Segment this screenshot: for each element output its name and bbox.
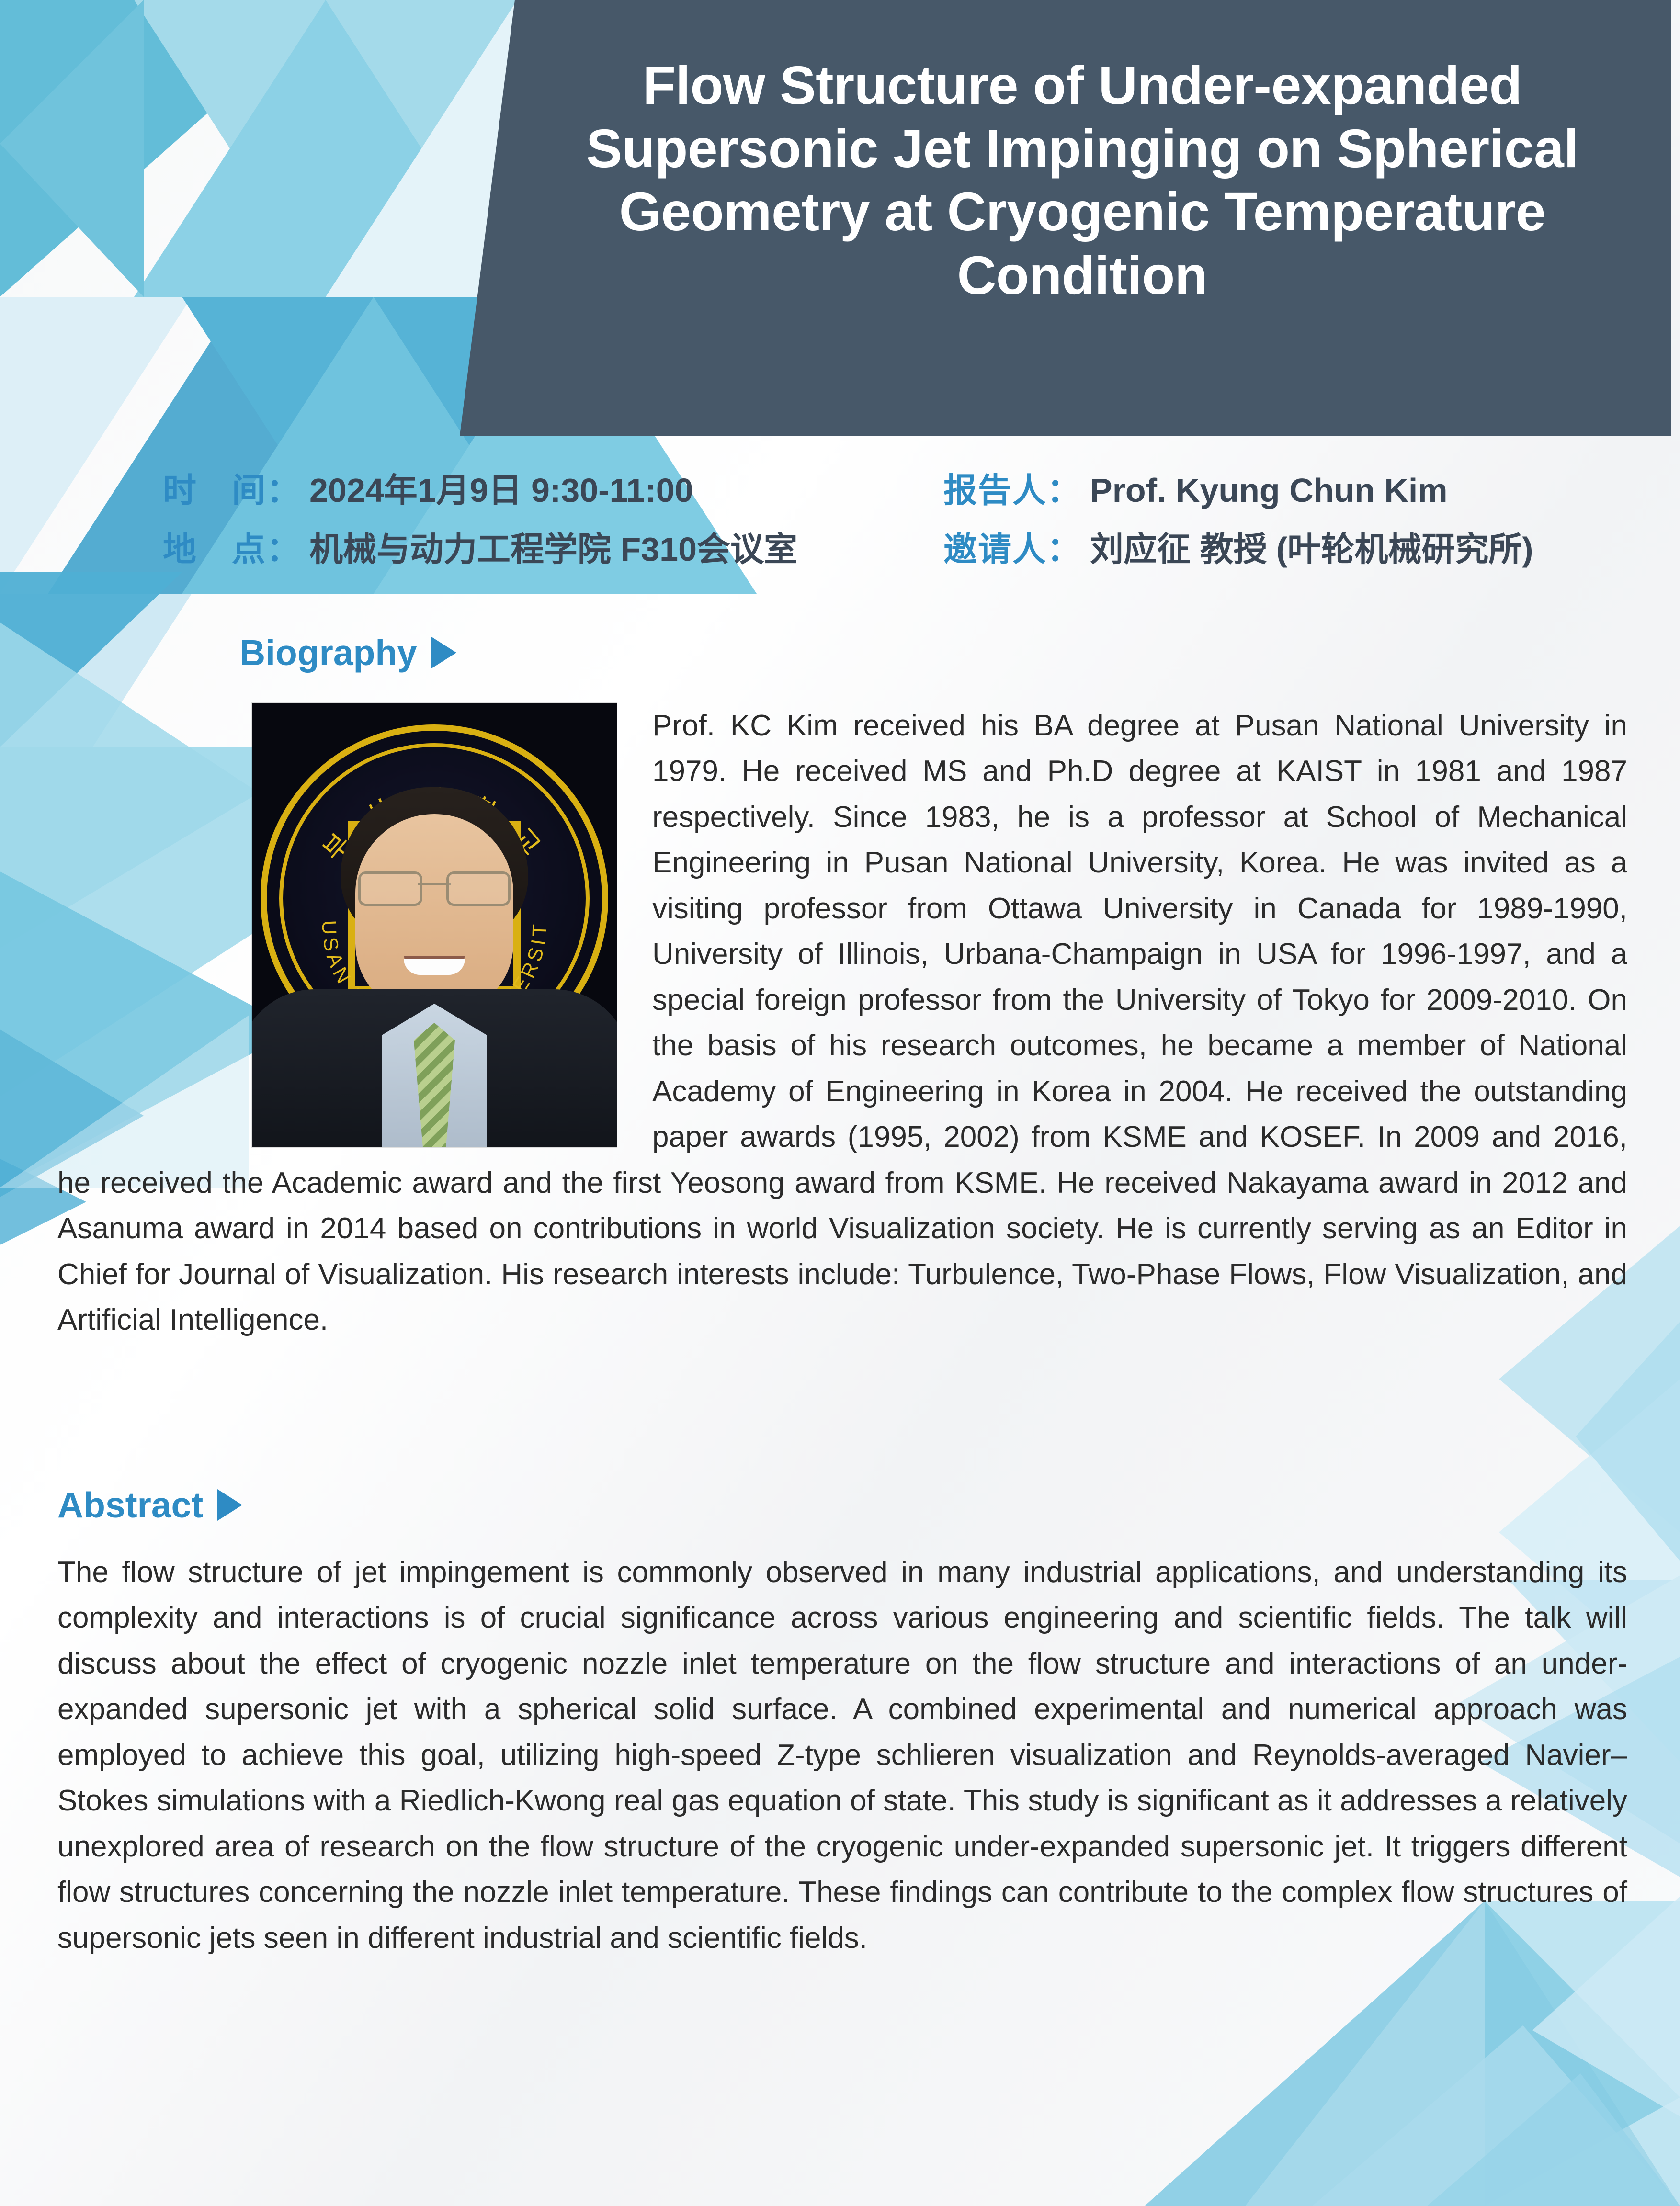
biography-text-block: Prof. KC Kim received his BA degree at P… (57, 703, 1627, 1343)
title-band: Flow Structure of Under-expanded Superso… (0, 0, 1680, 436)
biography-heading-label: Biography (239, 632, 417, 673)
host-label: 邀请人： (943, 522, 1081, 571)
time-field: 时 间： 2024年1月9日 9:30-11:00 (163, 464, 943, 512)
info-row-place: 地 点： 机械与动力工程学院 F310会议室 邀请人： 刘应征 教授 (叶轮机械… (163, 522, 1628, 571)
host-value: 刘应征 教授 (叶轮机械研究所) (1090, 522, 1533, 571)
place-field: 地 点： 机械与动力工程学院 F310会议室 (163, 522, 943, 571)
host-field: 邀请人： 刘应征 教授 (叶轮机械研究所) (943, 522, 1533, 571)
info-row-time: 时 间： 2024年1月9日 9:30-11:00 报告人： Prof. Kyu… (163, 464, 1628, 512)
abstract-text: The flow structure of jet impingement is… (57, 1556, 1627, 1955)
photo-wrap-spacer (57, 703, 652, 1153)
abstract-text-block: The flow structure of jet impingement is… (57, 1550, 1627, 1961)
place-label: 地 点： (163, 522, 301, 571)
abstract-heading-label: Abstract (57, 1484, 203, 1526)
speaker-value: Prof. Kyung Chun Kim (1090, 471, 1448, 509)
page-title: Flow Structure of Under-expanded Superso… (522, 54, 1643, 307)
time-value: 2024年1月9日 9:30-11:00 (309, 464, 693, 512)
place-value: 机械与动力工程学院 F310会议室 (309, 522, 797, 571)
abstract-heading: Abstract (57, 1484, 242, 1526)
speaker-label: 报告人： (943, 464, 1081, 512)
triangle-bullet-icon (431, 637, 456, 668)
seminar-info: 时 间： 2024年1月9日 9:30-11:00 报告人： Prof. Kyu… (163, 464, 1628, 581)
seminar-poster: Flow Structure of Under-expanded Superso… (0, 0, 1680, 2206)
biography-heading: Biography (239, 632, 456, 673)
time-label: 时 间： (163, 464, 301, 512)
triangle-bullet-icon (217, 1489, 242, 1521)
speaker-field: 报告人： Prof. Kyung Chun Kim (943, 464, 1448, 512)
